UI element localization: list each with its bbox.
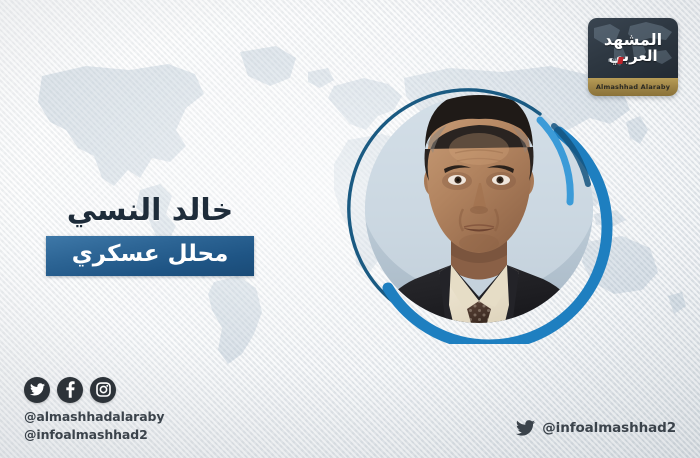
social-block: @almashhadalaraby @infoalmashhad2 — [24, 377, 164, 444]
guest-info: خالد النسي محلل عسكري — [0, 192, 300, 276]
footer-twitter-handle[interactable]: @infoalmashhad2 — [516, 420, 676, 436]
twitter-bird-icon — [516, 420, 535, 436]
handle-primary[interactable]: @almashhadalaraby — [24, 408, 164, 426]
footer-handle-text: @infoalmashhad2 — [542, 420, 676, 436]
handle-secondary[interactable]: @infoalmashhad2 — [24, 426, 164, 444]
logo-bottom-band: Almashhad Alaraby — [588, 78, 678, 96]
channel-logo[interactable]: المشهد العربي COM Almashhad Alaraby — [588, 18, 678, 96]
guest-card: خالد النسي محلل عسكري — [0, 0, 700, 458]
logo-line-1: المشهد — [604, 32, 662, 48]
logo-top-panel: المشهد العربي COM — [588, 18, 678, 78]
instagram-icon[interactable] — [90, 377, 116, 403]
facebook-icon[interactable] — [57, 377, 83, 403]
logo-latin-name: Almashhad Alaraby — [596, 83, 670, 91]
social-icon-row — [24, 377, 164, 403]
portrait-ring — [344, 74, 614, 344]
guest-title-badge: محلل عسكري — [46, 236, 255, 277]
guest-portrait — [354, 84, 604, 334]
twitter-icon[interactable] — [24, 377, 50, 403]
logo-arabic-name: المشهد العربي — [588, 18, 678, 78]
guest-name: خالد النسي — [0, 192, 300, 230]
